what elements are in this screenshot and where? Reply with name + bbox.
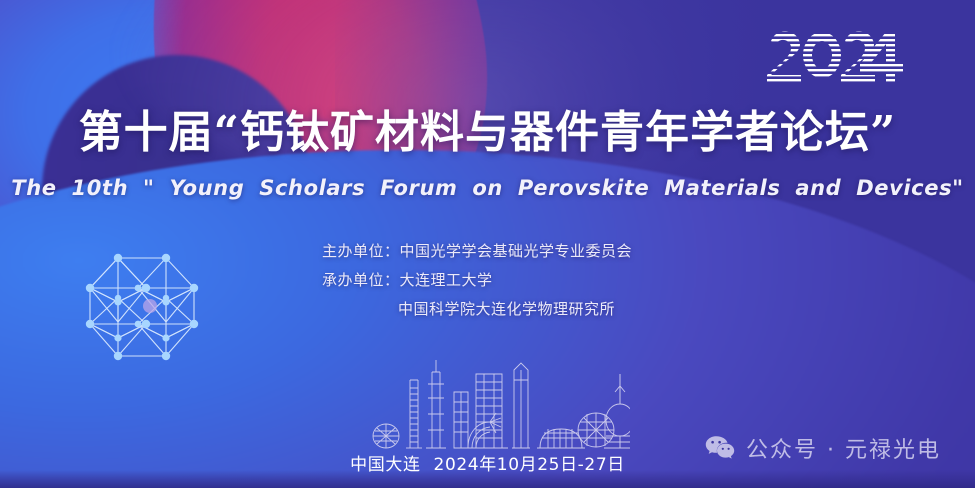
event-date: 2024年10月25日-27日 — [434, 455, 625, 475]
venue-city: 中国大连 — [350, 455, 420, 475]
organizer-row-undertaker-second: 中国科学院大连化学物理研究所 — [322, 295, 632, 324]
conference-title-chinese: 第十届“钙钛矿材料与器件青年学者论坛” — [0, 110, 975, 156]
perovskite-lattice-icon — [72, 242, 212, 372]
dalian-skyline-illustration — [372, 358, 630, 450]
poster-content: 第十届“钙钛矿材料与器件青年学者论坛” The 10th " Young Sch… — [0, 0, 975, 488]
wechat-icon — [705, 435, 735, 461]
year-2024-logo — [767, 24, 912, 86]
conference-title-english: The 10th " Young Scholars Forum on Perov… — [0, 176, 975, 200]
organizer-row-undertaker: 承办单位：大连理工大学 — [322, 266, 632, 295]
organizer-info-block: 主办单位：中国光学学会基础光学专业委员会 承办单位：大连理工大学 中国科学院大连… — [322, 237, 632, 324]
wechat-watermark: 公众号 · 元禄光电 — [705, 432, 941, 464]
organizer-row-host: 主办单位：中国光学学会基础光学专业委员会 — [322, 237, 632, 266]
conference-poster: 第十届“钙钛矿材料与器件青年学者论坛” The 10th " Young Sch… — [0, 0, 975, 488]
watermark-label: 公众号 · 元禄光电 — [746, 432, 941, 464]
